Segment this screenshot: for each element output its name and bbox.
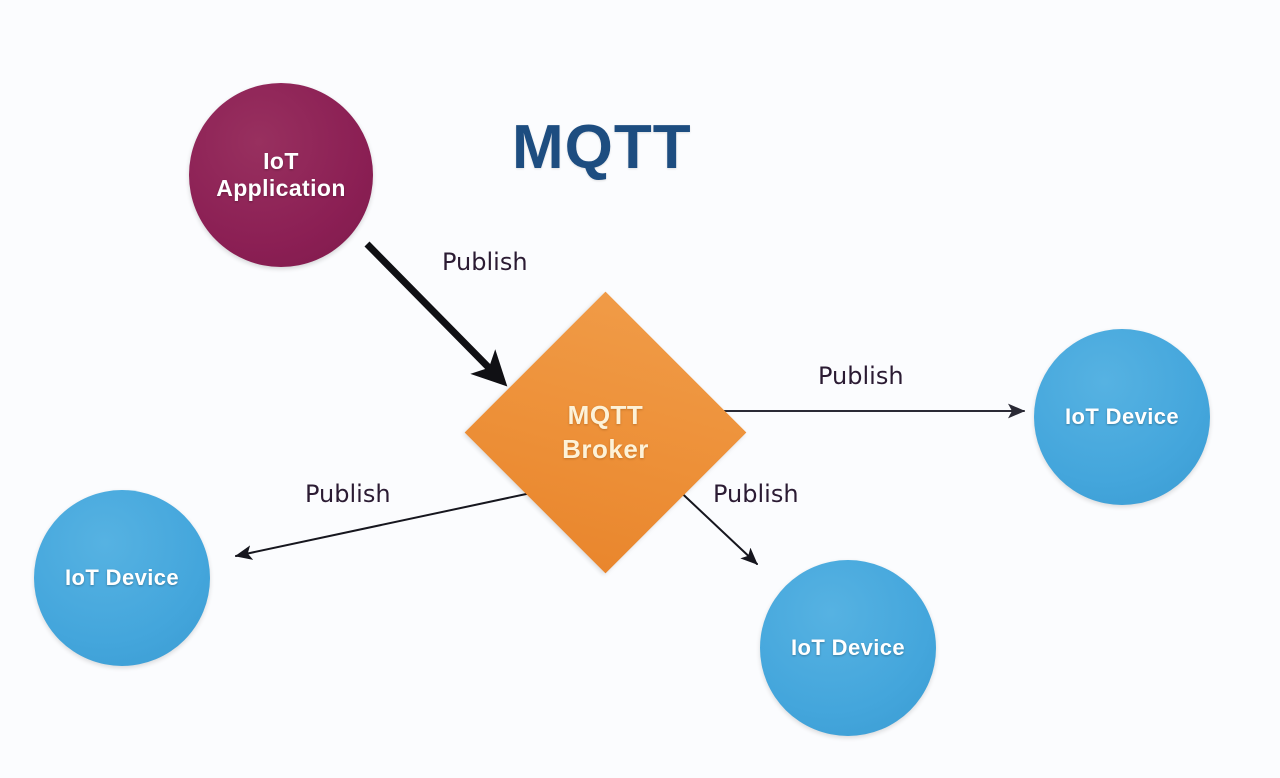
node-iot-device-bottom[interactable]: IoT Device: [760, 560, 936, 736]
node-iot-device-bottom-label: IoT Device: [791, 635, 905, 661]
node-iot-device-left-label: IoT Device: [65, 565, 179, 591]
diagram-title: MQTT: [512, 112, 692, 183]
node-mqtt-broker-label: MQTT Broker: [506, 333, 705, 532]
node-iot-application[interactable]: IoT Application: [189, 83, 373, 267]
node-iot-application-label-line2: Application: [216, 175, 346, 201]
node-iot-application-label: IoT Application: [216, 148, 346, 202]
node-iot-device-right[interactable]: IoT Device: [1034, 329, 1210, 505]
edge-label-broker-to-device-bottom: Publish: [713, 480, 799, 508]
node-iot-device-right-label: IoT Device: [1065, 404, 1179, 430]
node-iot-device-left[interactable]: IoT Device: [34, 490, 210, 666]
node-mqtt-broker[interactable]: MQTT Broker: [506, 333, 705, 532]
node-iot-application-label-line1: IoT: [263, 148, 299, 174]
node-mqtt-broker-label-line2: Broker: [562, 433, 649, 466]
mqtt-architecture-diagram: MQTT IoT Application MQTT Broker IoT Dev…: [0, 0, 1280, 778]
node-mqtt-broker-label-line1: MQTT: [568, 399, 644, 432]
edge-label-broker-to-device-left: Publish: [305, 480, 391, 508]
edge-label-app-to-broker: Publish: [442, 248, 528, 276]
edge-label-broker-to-device-right: Publish: [818, 362, 904, 390]
